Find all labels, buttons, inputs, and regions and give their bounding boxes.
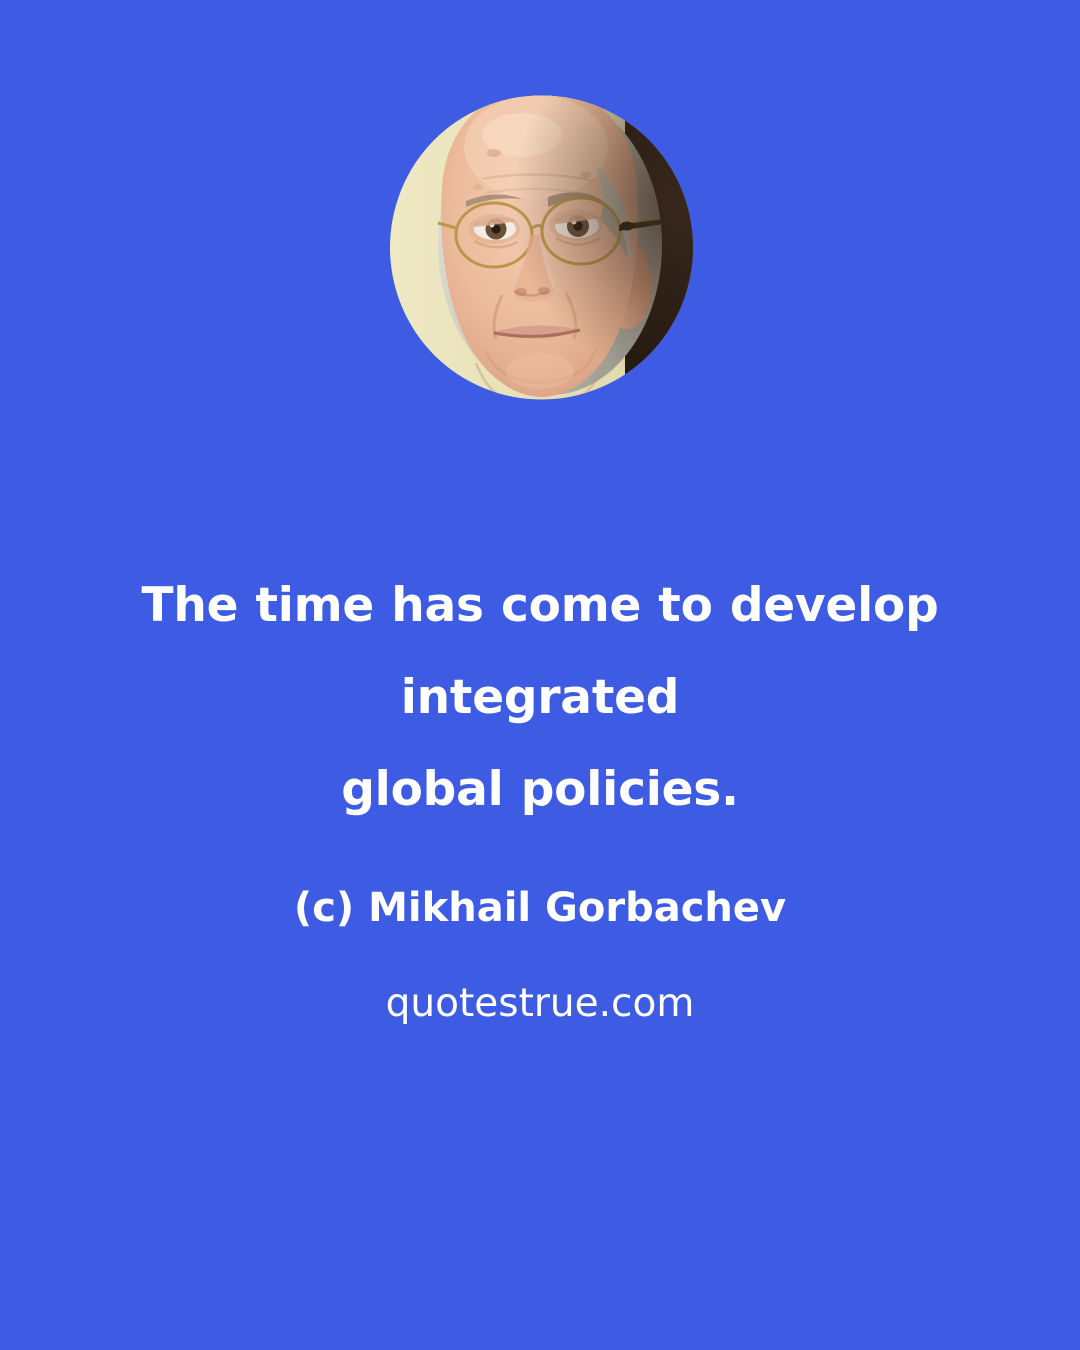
portrait-illustration xyxy=(390,95,693,400)
quote-line-1: The time has come to develop integrated xyxy=(141,578,938,725)
quote-line-2: global policies. xyxy=(341,762,739,817)
quote-author: (c) Mikhail Gorbachev xyxy=(0,836,1080,928)
portrait-container xyxy=(390,95,693,400)
source-website: quotestrue.com xyxy=(0,928,1080,1023)
quote-text: The time has come to develop integrated … xyxy=(0,560,1080,836)
quote-card: The time has come to develop integrated … xyxy=(0,0,1080,1350)
portrait-photo-circle xyxy=(390,95,693,400)
quote-text-block: The time has come to develop integrated … xyxy=(0,560,1080,1023)
